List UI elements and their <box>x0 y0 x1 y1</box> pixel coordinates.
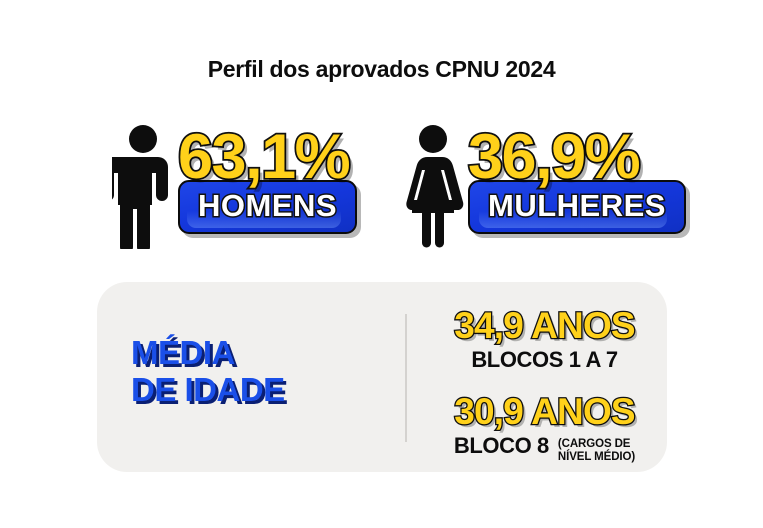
age-note-line1: (CARGOS DE <box>558 438 635 451</box>
age-value-blocos-1-a-7: 34,9 ANOS <box>427 304 662 348</box>
age-note-bloco-8: (CARGOS DE NÍVEL MÉDIO) <box>558 438 635 463</box>
women-percentage: 36,9% <box>468 118 686 196</box>
age-caption-row-blocos-1-a-7: BLOCOS 1 A 7 <box>427 348 662 373</box>
age-caption-row-bloco-8: BLOCO 8 (CARGOS DE NÍVEL MÉDIO) <box>427 434 662 463</box>
men-stat-column: 63,1% HOMENS <box>178 118 357 239</box>
average-age-heading-line2: DE IDADE <box>131 371 371 408</box>
average-age-heading-line1: MÉDIA <box>131 334 371 371</box>
age-caption-blocos-1-a-7: BLOCOS 1 A 7 <box>471 347 617 373</box>
age-group-bloco-8: 30,9 ANOS BLOCO 8 (CARGOS DE NÍVEL MÉDIO… <box>427 390 662 463</box>
page-title: Perfil dos aprovados CPNU 2024 <box>0 56 763 83</box>
female-pictogram-icon <box>402 124 464 249</box>
average-age-panel: MÉDIA DE IDADE 34,9 ANOS BLOCOS 1 A 7 30… <box>97 282 667 472</box>
average-age-heading: MÉDIA DE IDADE <box>131 334 371 408</box>
gender-statistics-row: 63,1% HOMENS 3 <box>0 118 763 263</box>
infographic-canvas: Perfil dos aprovados CPNU 2024 63,1% HOM… <box>0 0 763 528</box>
male-pictogram-icon <box>112 124 174 249</box>
average-age-values: 34,9 ANOS BLOCOS 1 A 7 30,9 ANOS BLOCO 8… <box>427 304 662 463</box>
age-caption-bloco-8: BLOCO 8 <box>454 433 549 459</box>
panel-divider <box>405 314 407 442</box>
age-group-blocos-1-a-7: 34,9 ANOS BLOCOS 1 A 7 <box>427 304 662 373</box>
age-value-bloco-8: 30,9 ANOS <box>427 390 662 434</box>
age-note-line2: NÍVEL MÉDIO) <box>558 451 635 464</box>
men-percentage: 63,1% <box>178 118 357 196</box>
women-stat-column: 36,9% MULHERES <box>468 118 686 239</box>
